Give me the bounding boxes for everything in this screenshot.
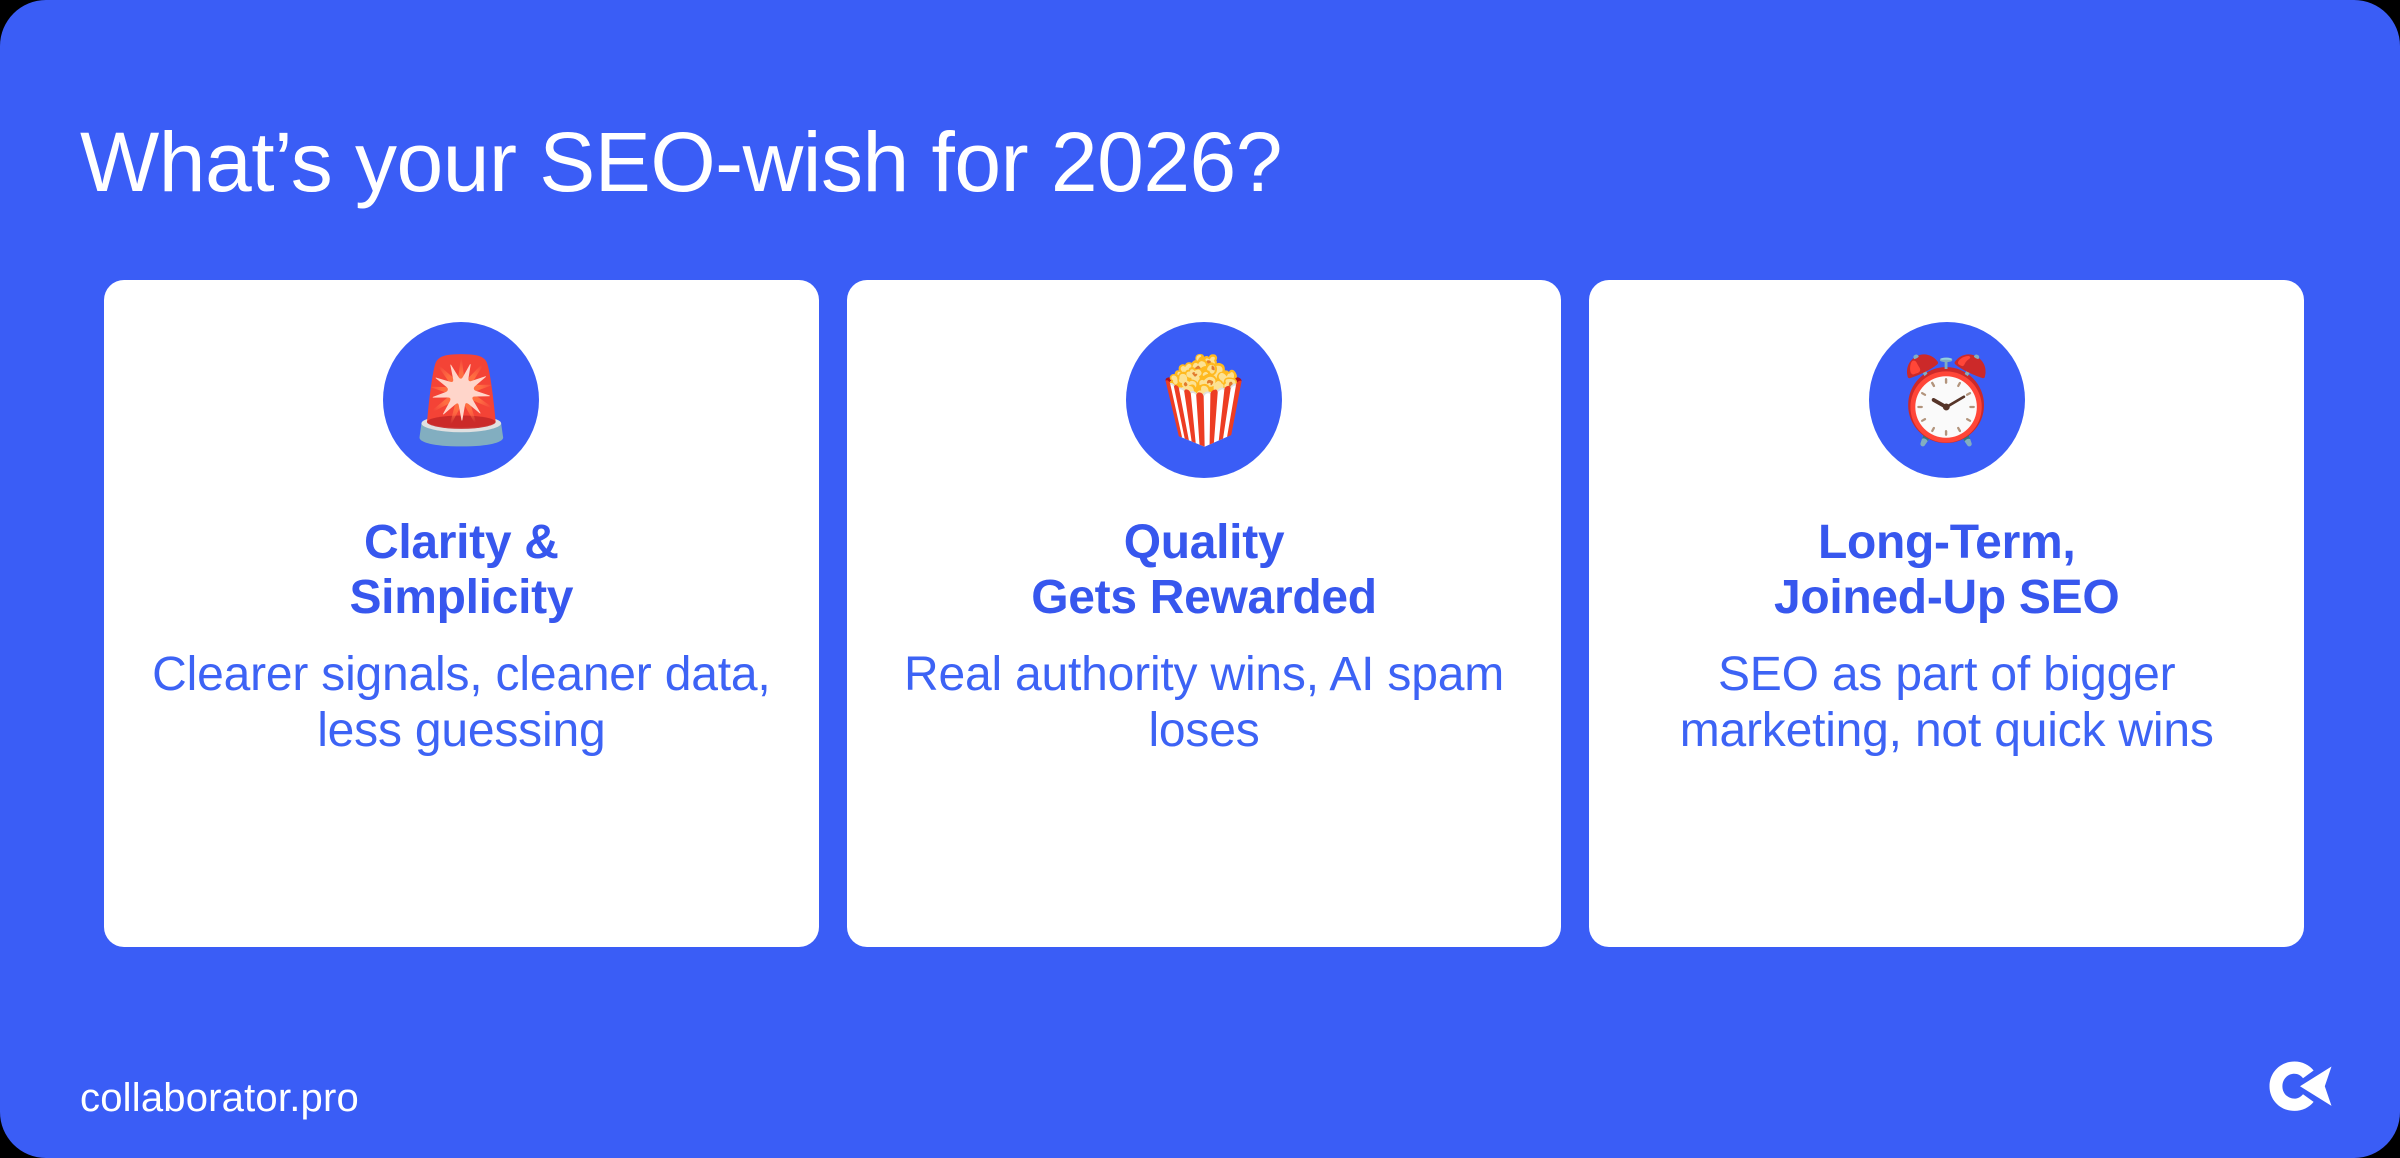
card-clarity-simplicity: 🚨 Clarity & Simplicity Clearer signals, … [104,280,819,947]
page-title: What’s your SEO-wish for 2026? [80,118,1282,206]
icon-badge: ⏰ [1869,322,2025,478]
card-quality-gets-rewarded: 🍿 Quality Gets Rewarded Real authority w… [847,280,1562,947]
cards-row: 🚨 Clarity & Simplicity Clearer signals, … [104,280,2304,947]
card-title: Clarity & Simplicity [349,516,573,625]
footer-domain-label: collaborator.pro [80,1078,359,1118]
card-body: SEO as part of bigger marketing, not qui… [1623,647,2270,758]
card-long-term-joined-up-seo: ⏰ Long-Term, Joined-Up SEO SEO as part o… [1589,280,2304,947]
collaborator-logo [2264,1057,2336,1123]
card-title: Quality Gets Rewarded [1031,516,1377,625]
popcorn-icon: 🍿 [1152,358,1257,442]
alarm-clock-icon: ⏰ [1894,358,1999,442]
rotating-light-icon: 🚨 [409,358,514,442]
icon-badge: 🚨 [383,322,539,478]
card-title: Long-Term, Joined-Up SEO [1774,516,2119,625]
icon-badge: 🍿 [1126,322,1282,478]
card-body: Clearer signals, cleaner data, less gues… [138,647,785,758]
card-body: Real authority wins, AI spam loses [881,647,1528,758]
infographic-canvas: What’s your SEO-wish for 2026? 🚨 Clarity… [0,0,2400,1158]
